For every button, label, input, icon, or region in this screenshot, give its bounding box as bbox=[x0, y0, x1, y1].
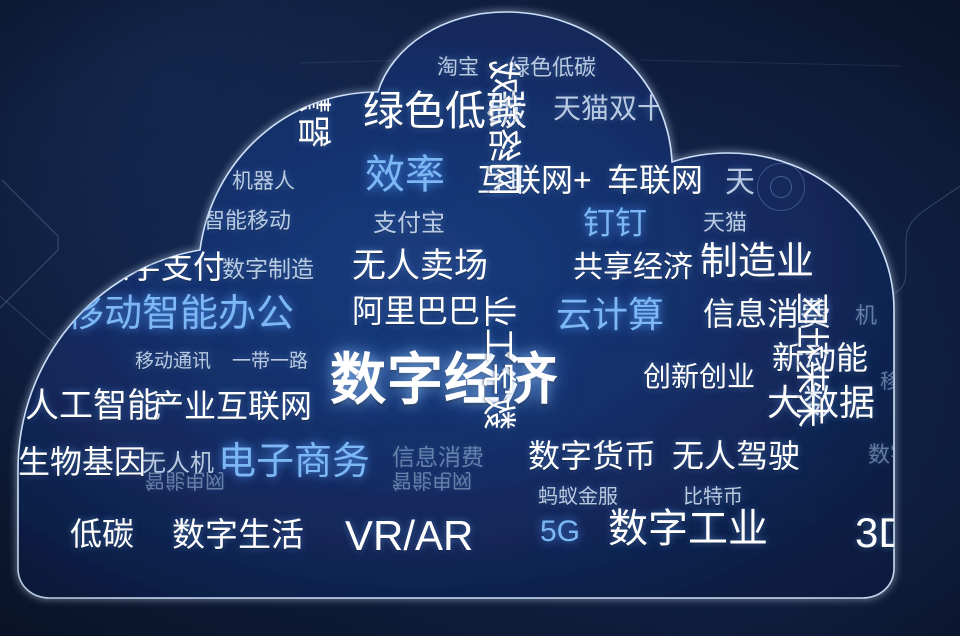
word-item: 智能移动 bbox=[203, 210, 291, 232]
word-item: 数字生活 bbox=[172, 518, 304, 551]
word-item: 信息消费 bbox=[392, 446, 484, 469]
word-cloud-scene: 数字经济 淘宝绿色低碳绿色低碳天猫双十一网机器人效率互联网+车联网天合智能移动支… bbox=[0, 0, 960, 636]
word-item: 制造业 bbox=[700, 243, 814, 281]
word-item: 无人驾驶 bbox=[672, 440, 800, 472]
word-item: 机 bbox=[855, 305, 877, 327]
word-item-mirrored: 智能电网 bbox=[392, 470, 472, 490]
word-item: 机器人 bbox=[232, 171, 295, 192]
word-item: 生物基因 bbox=[18, 446, 146, 478]
word-item: 移动通讯 bbox=[135, 352, 211, 371]
word-item: 数字货币 bbox=[528, 440, 656, 472]
hero-word: 数字经济 bbox=[330, 352, 558, 408]
word-item: 车联网 bbox=[607, 164, 703, 196]
word-item-mirrored: 智能电网 bbox=[145, 470, 225, 490]
word-item: 云计算 bbox=[556, 297, 664, 333]
word-item: 无人卖场 bbox=[352, 249, 488, 283]
word-item-rotated: 未来社区 bbox=[794, 292, 828, 428]
word-item: 人工智能 bbox=[25, 389, 161, 423]
word-item: 天猫 bbox=[703, 212, 747, 234]
word-item: 比特币 bbox=[683, 487, 743, 507]
word-item: 移动智能办公 bbox=[66, 295, 294, 333]
word-item-rotated: 数字工业 bbox=[481, 294, 515, 430]
word-item: 产业互联网 bbox=[152, 390, 312, 422]
cloud-shape: 数字经济 淘宝绿色低碳绿色低碳天猫双十一网机器人效率互联网+车联网天合智能移动支… bbox=[0, 0, 960, 636]
word-item: 一带一路 bbox=[232, 352, 308, 371]
word-item: 钉钉 bbox=[583, 207, 647, 239]
word-item: 效率 bbox=[365, 155, 445, 195]
word-item: 数字工业 bbox=[608, 509, 768, 549]
word-item: VR/AR bbox=[345, 515, 473, 557]
word-item: 天 bbox=[725, 168, 755, 198]
word-item-rotated: 网络游戏 bbox=[486, 60, 520, 196]
word-item: 共享经济 bbox=[573, 253, 693, 283]
word-item: 创新创业 bbox=[643, 363, 755, 391]
word-item: 5G bbox=[540, 517, 580, 547]
word-item: 淘宝 bbox=[437, 57, 479, 78]
word-item: 数字制造 bbox=[222, 258, 314, 281]
word-item: 低碳 bbox=[70, 518, 134, 550]
word-item: 电子商务 bbox=[218, 443, 370, 481]
word-item: 阿里巴巴 bbox=[352, 295, 480, 327]
word-item: 支付宝 bbox=[373, 212, 445, 236]
word-item: 蚂蚁金服 bbox=[538, 487, 618, 507]
